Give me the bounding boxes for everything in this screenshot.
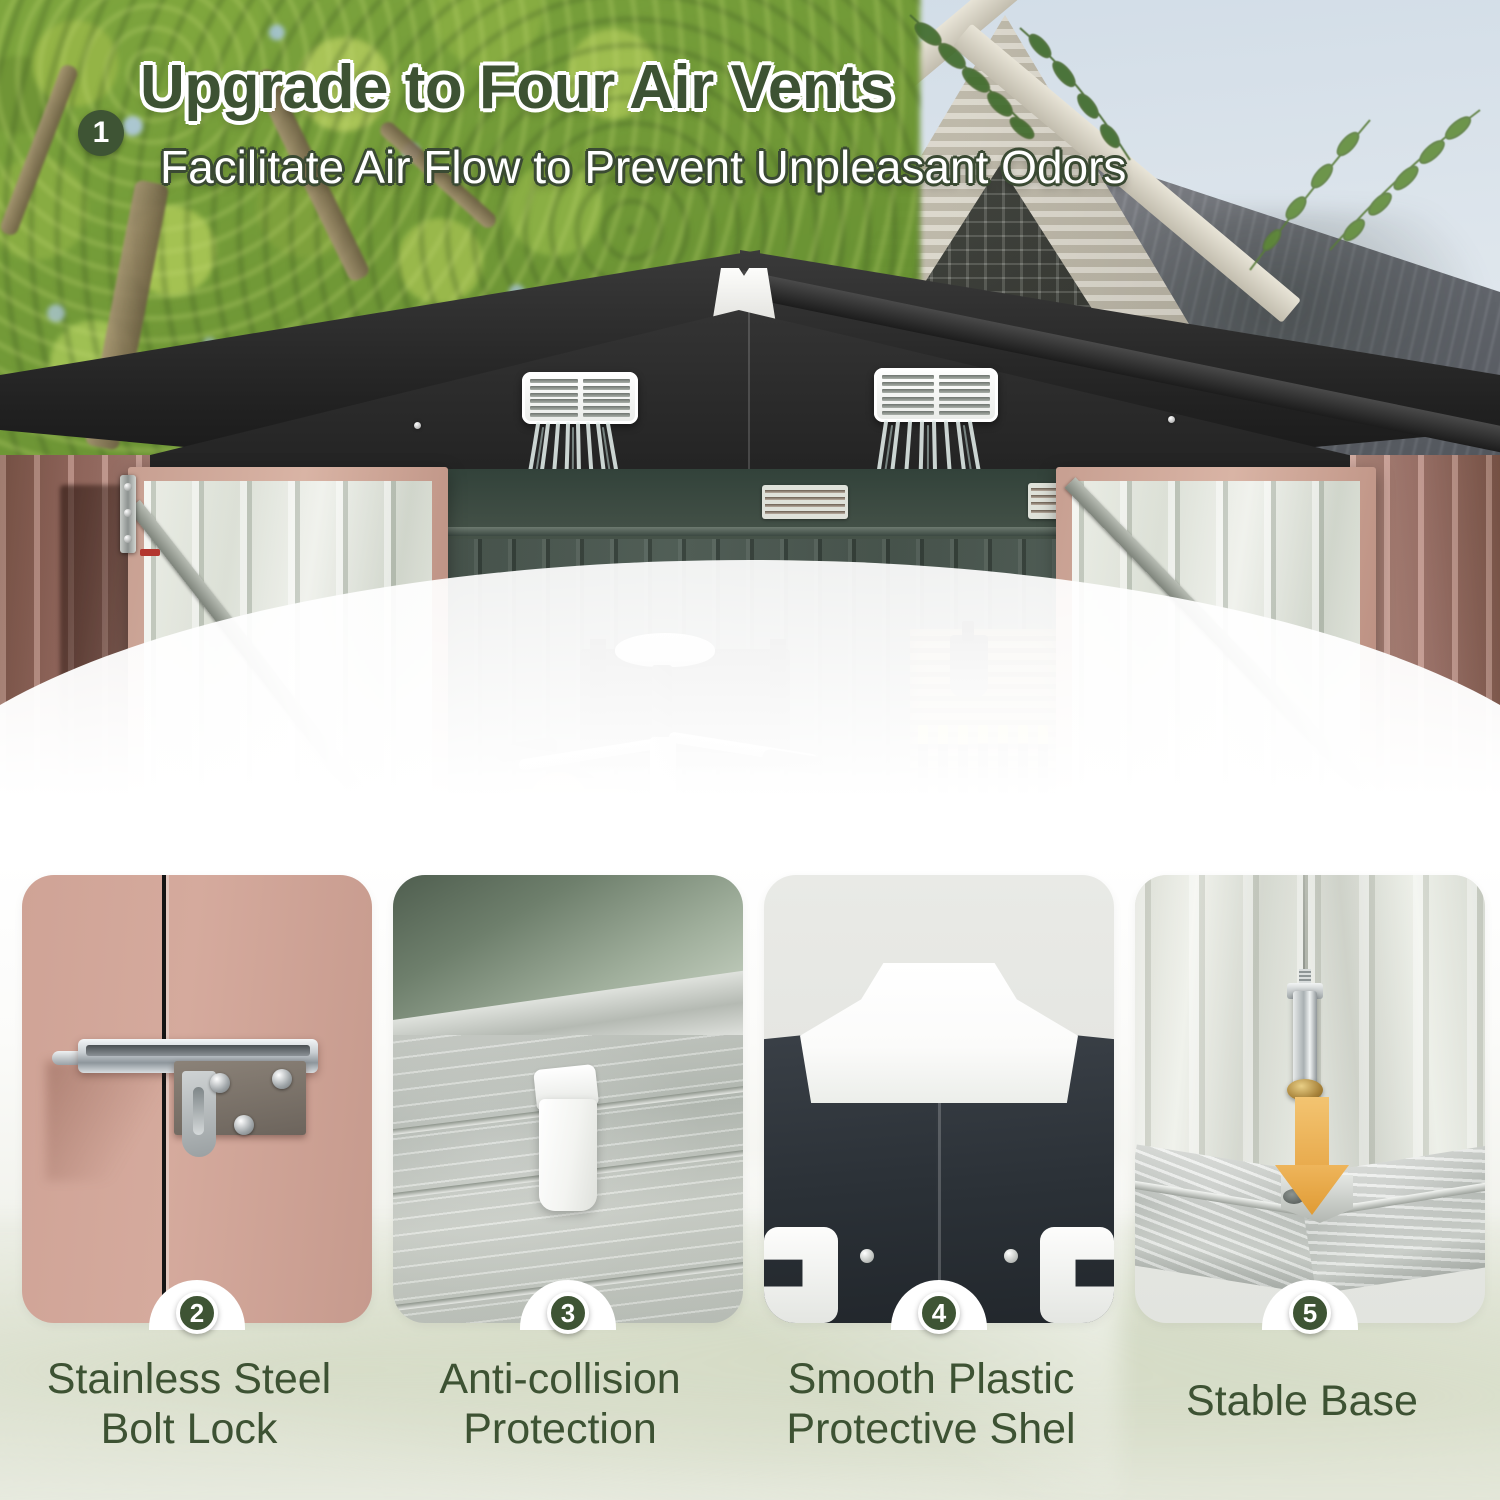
- infographic-page: 1 Upgrade to Four Air Vents Facilitate A…: [0, 0, 1500, 1500]
- caption-anti-collision: Anti-collision Protection: [376, 1355, 744, 1455]
- vent-louvers: [882, 375, 990, 415]
- caption-line-2: Protective Shel: [747, 1405, 1115, 1455]
- caption-line-1: Stable Base: [1118, 1377, 1486, 1427]
- feature-captions: Stainless Steel Bolt Lock Anti-collision…: [0, 1355, 1500, 1500]
- caption-stable-base: Stable Base: [1118, 1377, 1486, 1427]
- caption-plastic-shell: Smooth Plastic Protective Shel: [747, 1355, 1115, 1455]
- door-hinge: [120, 475, 136, 553]
- caption-line-1: Anti-collision: [376, 1355, 744, 1405]
- vent-louvers: [530, 379, 630, 417]
- air-vent: [874, 368, 998, 422]
- feature-card-stable-base[interactable]: [1135, 875, 1485, 1323]
- air-vent: [762, 485, 848, 519]
- anchor-bolt: [1293, 991, 1317, 1087]
- screw: [860, 1249, 874, 1263]
- caption-line-2: Bolt Lock: [5, 1405, 373, 1455]
- feature-badge-1: 1: [78, 110, 124, 156]
- rivet: [272, 1069, 292, 1089]
- down-arrow-icon: [1275, 1097, 1349, 1217]
- hero-photo: 1 Upgrade to Four Air Vents Facilitate A…: [0, 0, 1500, 905]
- screw: [1168, 416, 1175, 423]
- feature-badge-5: 5: [1289, 1292, 1331, 1334]
- interior-ceiling-beam: [440, 527, 1060, 536]
- screw: [414, 422, 421, 429]
- anchor-guide-line: [1303, 875, 1305, 975]
- feature-badge-2: 2: [176, 1292, 218, 1334]
- feature-card-row: [0, 875, 1500, 1335]
- anti-collision-bumper: [539, 1099, 597, 1211]
- caption-line-1: Smooth Plastic: [747, 1355, 1115, 1405]
- caption-bolt-lock: Stainless Steel Bolt Lock: [5, 1355, 373, 1455]
- padlock-slot: [193, 1087, 204, 1135]
- page-title: Upgrade to Four Air Vents: [140, 52, 893, 123]
- door-handle-tab[interactable]: [140, 549, 160, 556]
- feature-card-bolt-lock[interactable]: [22, 875, 372, 1323]
- feature-badge-4: 4: [918, 1292, 960, 1334]
- page-subtitle: Facilitate Air Flow to Prevent Unpleasan…: [160, 140, 1126, 194]
- caption-line-2: Protection: [376, 1405, 744, 1455]
- screw: [1004, 1249, 1018, 1263]
- door-seam-highlight: [166, 875, 169, 1323]
- air-vent: [522, 372, 638, 424]
- rivet: [210, 1073, 230, 1093]
- feature-badge-3: 3: [547, 1292, 589, 1334]
- lock-cast-shadow: [46, 1061, 166, 1181]
- caption-line-1: Stainless Steel: [5, 1355, 373, 1405]
- feature-card-anti-collision[interactable]: [393, 875, 743, 1323]
- feature-card-plastic-shell[interactable]: [764, 875, 1114, 1323]
- rivet: [234, 1115, 254, 1135]
